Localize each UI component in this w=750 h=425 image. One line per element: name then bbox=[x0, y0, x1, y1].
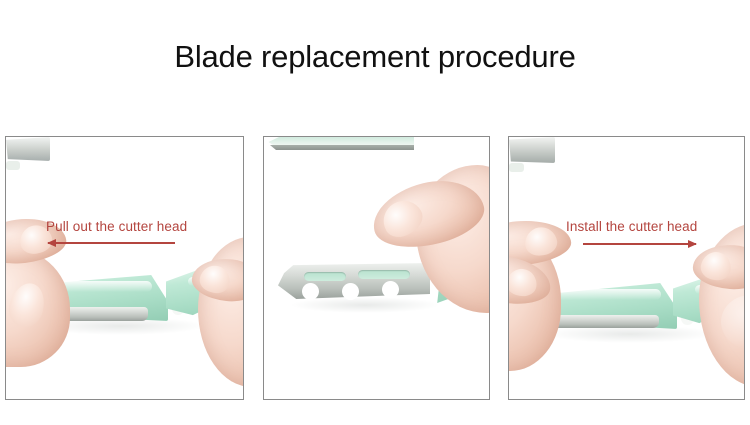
arrow-shaft bbox=[583, 243, 696, 245]
cutter-head-notch bbox=[302, 283, 319, 300]
panel-cutter-head-detached bbox=[263, 136, 490, 400]
cutter-head-top-rim bbox=[264, 137, 414, 145]
cutter-head-notch bbox=[382, 281, 399, 298]
arrow-left-icon bbox=[48, 238, 175, 248]
thumbnail bbox=[508, 267, 539, 298]
panels-row: Pull out the cutter head bbox=[0, 136, 750, 402]
fingernail bbox=[523, 225, 559, 258]
photo-pull-out-cutter-head: Pull out the cutter head bbox=[6, 137, 243, 399]
panel-install: Install the cutter head bbox=[508, 136, 745, 400]
arrow-head bbox=[688, 240, 697, 248]
panel-pull-out: Pull out the cutter head bbox=[5, 136, 244, 400]
photo-install-cutter-head: Install the cutter head bbox=[509, 137, 744, 399]
cutter-head-blade-edge bbox=[264, 145, 414, 150]
page-title: Blade replacement procedure bbox=[0, 38, 750, 75]
blade-slot bbox=[6, 161, 20, 170]
left-hand bbox=[5, 249, 70, 367]
arrow-right-icon bbox=[583, 239, 696, 249]
thumbnail bbox=[197, 263, 233, 296]
fingernail bbox=[5, 279, 49, 331]
caption-install: Install the cutter head bbox=[566, 219, 697, 234]
razor-blade bbox=[509, 137, 555, 163]
arrow-head bbox=[47, 239, 56, 247]
photo-cutter-head-exposed bbox=[264, 137, 489, 399]
cutter-head-slot bbox=[358, 270, 410, 279]
razor-blade bbox=[6, 137, 50, 161]
blade-slot bbox=[509, 163, 524, 172]
cutter-head-slot bbox=[304, 272, 346, 281]
cutter-head-notch bbox=[342, 283, 359, 300]
thumbnail bbox=[699, 250, 733, 283]
arrow-shaft bbox=[48, 242, 175, 244]
caption-pull-out: Pull out the cutter head bbox=[46, 219, 187, 234]
thumbnail bbox=[376, 194, 428, 243]
